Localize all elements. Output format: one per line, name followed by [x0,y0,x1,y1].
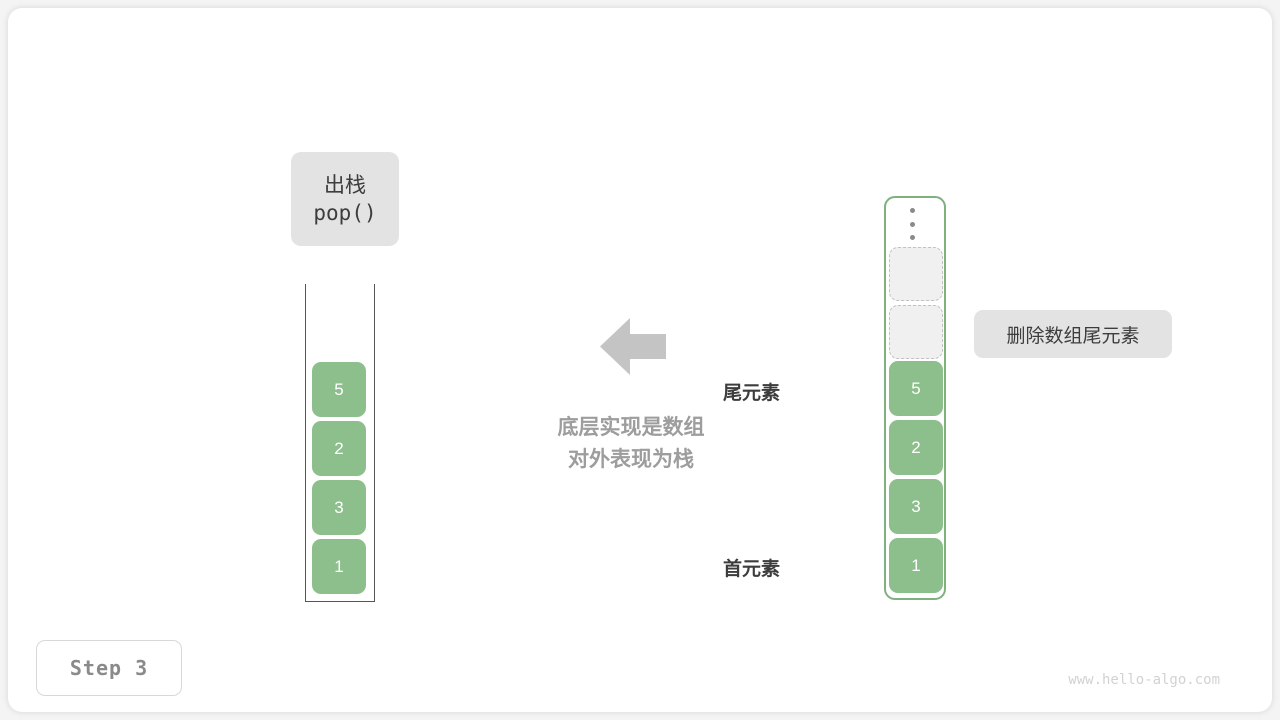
operation-label: 出栈 pop() [291,152,399,246]
arrow-left-icon [600,318,666,375]
array-item: 3 [889,479,943,534]
head-element-label: 首元素 [660,554,780,581]
array-item: 2 [889,420,943,475]
array-empty-slot [889,305,943,359]
array-empty-slot [889,247,943,301]
ellipsis-dot [910,208,915,213]
center-caption-line1: 底层实现是数组 [500,412,762,444]
array-empty-slot-list [889,247,943,363]
operation-label-name: 出栈 [324,175,366,196]
array-item: 5 [889,361,943,416]
center-caption-line2: 对外表现为栈 [500,444,762,476]
tail-element-label: 尾元素 [660,378,780,405]
figure-canvas: 出栈 pop() 5 2 3 1 底层实现是数组 对外表现为栈 尾元素 首元素 … [0,0,1280,720]
ellipsis-dot [910,222,915,227]
stack-item: 3 [312,480,366,535]
ellipsis-dot [910,235,915,240]
center-caption: 底层实现是数组 对外表现为栈 [500,412,762,476]
stack-item-list: 5 2 3 1 [312,362,368,594]
array-item-list: 5 2 3 1 [889,361,943,593]
vertical-ellipsis-icon [909,208,916,240]
watermark: www.hello-algo.com [1010,672,1220,688]
array-item: 1 [889,538,943,593]
stack-item: 5 [312,362,366,417]
step-badge: Step 3 [36,640,182,696]
stack-item: 2 [312,421,366,476]
array-annotation: 删除数组尾元素 [974,310,1172,358]
stack-item: 1 [312,539,366,594]
operation-label-code: pop() [313,203,376,224]
